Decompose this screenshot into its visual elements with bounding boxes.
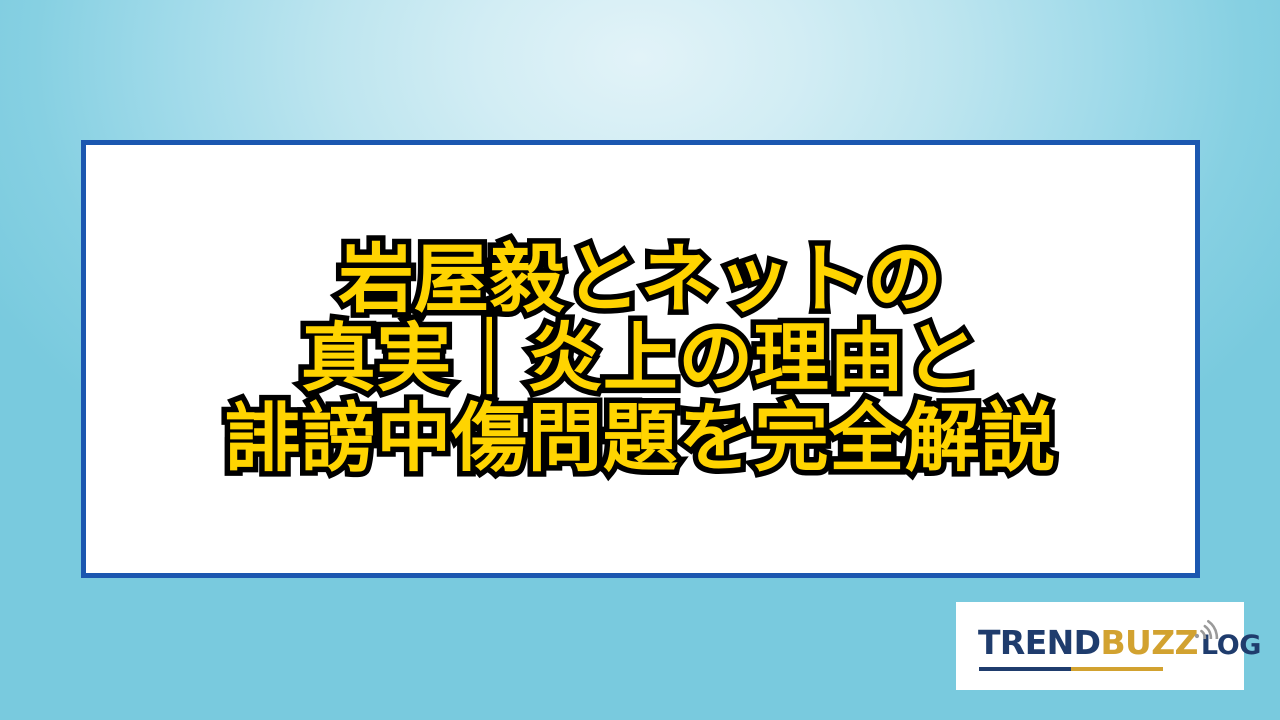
headline-line-2: 真実｜炎上の理由と — [86, 319, 1195, 399]
brand-logo: TRENDBUZZLOG — [978, 617, 1222, 675]
brand-underline-bar — [979, 667, 1163, 671]
brand-underline-gold-segment — [1071, 667, 1163, 671]
brand-underline-navy-segment — [979, 667, 1071, 671]
wifi-signal-dot — [1195, 634, 1199, 638]
headline-line-3: 誹謗中傷問題を完全解説 — [86, 399, 1195, 479]
wifi-signal-icon — [1190, 609, 1224, 639]
headline-line-1: 岩屋毅とネットの — [86, 240, 1195, 320]
thumbnail-canvas: 岩屋毅とネットの 真実｜炎上の理由と 誹謗中傷問題を完全解説 TRENDBUZZ… — [0, 0, 1280, 720]
brand-text-trend: TREND — [978, 623, 1100, 662]
brand-text-buzz: BUZZ — [1100, 623, 1197, 662]
brand-logo-badge: TRENDBUZZLOG — [956, 602, 1244, 690]
content-panel: 岩屋毅とネットの 真実｜炎上の理由と 誹謗中傷問題を完全解説 — [81, 140, 1200, 578]
headline-text-block: 岩屋毅とネットの 真実｜炎上の理由と 誹謗中傷問題を完全解説 — [86, 240, 1195, 479]
